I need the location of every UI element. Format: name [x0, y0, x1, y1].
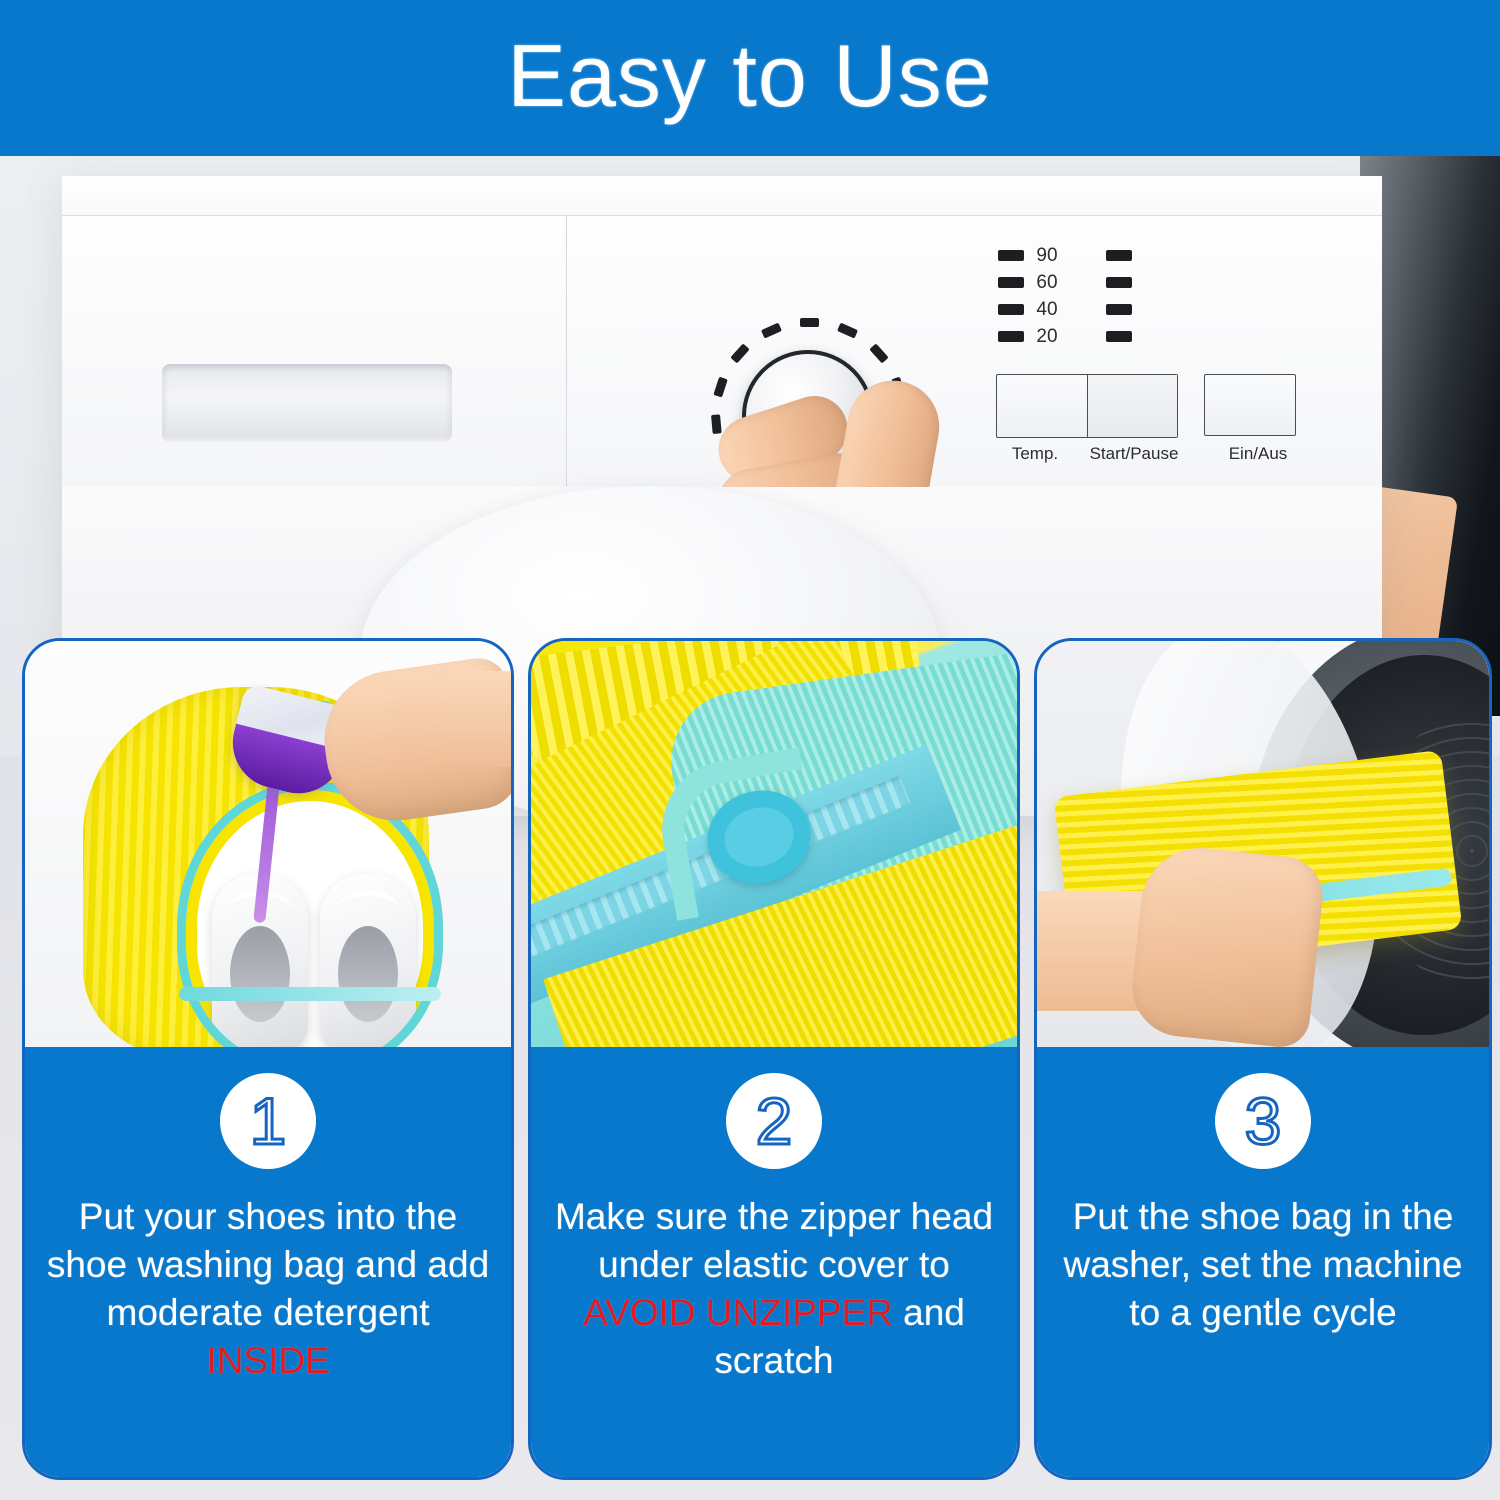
temperature-label: 20 [1024, 326, 1070, 348]
led-dash-icon [998, 331, 1024, 342]
step-text-plain: Put the shoe bag in the washer, set the … [1064, 1196, 1463, 1333]
step-text-plain: Make sure the zipper head under elastic … [555, 1196, 993, 1285]
dial-tick-icon [869, 343, 888, 363]
temperature-row: 90 [998, 242, 1132, 269]
temp-button[interactable] [997, 375, 1087, 437]
dial-tick-icon [837, 323, 858, 339]
dial-tick-icon [761, 323, 782, 339]
machine-buttons [996, 374, 1296, 438]
shoe-insole [230, 926, 290, 1022]
temperature-row: 60 [998, 269, 1132, 296]
power-button[interactable] [1204, 374, 1296, 436]
temperature-indicator-cluster: 90 60 40 20 [998, 242, 1132, 350]
step-3-badge: 3 [1215, 1073, 1311, 1169]
start-pause-button[interactable] [1087, 375, 1177, 437]
shoe-insole [338, 926, 398, 1022]
hand-holding-bag [1128, 842, 1327, 1047]
dial-tick-icon [730, 343, 749, 363]
bag-opening [177, 781, 443, 1047]
temperature-row: 40 [998, 296, 1132, 323]
dial-tick-icon [713, 377, 727, 398]
step-card-3: 3 Put the shoe bag in the washer, set th… [1034, 638, 1492, 1480]
step-1-photo [25, 641, 511, 1047]
header-banner: Easy to Use [0, 0, 1500, 156]
led-dash-icon [998, 304, 1024, 315]
step-1-text: Put your shoes into the shoe washing bag… [25, 1193, 511, 1385]
step-3-text: Put the shoe bag in the washer, set the … [1037, 1193, 1489, 1337]
step-2-caption: 2 Make sure the zipper head under elasti… [531, 1047, 1017, 1477]
step-card-2: 2 Make sure the zipper head under elasti… [528, 638, 1020, 1480]
temperature-label: 60 [1024, 272, 1070, 294]
step-3-photo [1037, 641, 1489, 1047]
machine-button-labels: Temp. Start/Pause Ein/Aus [988, 444, 1318, 464]
page-title: Easy to Use [507, 32, 992, 120]
start-pause-button-label: Start/Pause [1082, 444, 1186, 464]
step-number: 3 [1245, 1088, 1282, 1154]
step-3-caption: 3 Put the shoe bag in the washer, set th… [1037, 1047, 1489, 1477]
step-1-caption: 1 Put your shoes into the shoe washing b… [25, 1047, 511, 1477]
bag-zipper [179, 987, 441, 1001]
step-text-plain: Put your shoes into the shoe washing bag… [47, 1196, 489, 1333]
temp-button-label: Temp. [988, 444, 1082, 464]
temperature-label: 90 [1024, 245, 1070, 267]
led-dash-icon [1106, 277, 1132, 288]
sneaker-right [320, 874, 416, 1047]
dial-tick-icon [800, 318, 819, 327]
step-text-highlight: AVOID UNZIPPER [583, 1292, 893, 1333]
led-dash-icon [1106, 304, 1132, 315]
machine-control-panel: 90 60 40 20 [568, 216, 1382, 486]
machine-control-row: 90 60 40 20 [62, 216, 1382, 486]
power-button-label: Ein/Aus [1198, 444, 1318, 464]
drawer-handle[interactable] [162, 364, 452, 442]
led-dash-icon [1106, 331, 1132, 342]
wrist [445, 671, 511, 767]
step-number: 1 [250, 1088, 287, 1154]
temp-startpause-button-pair[interactable] [996, 374, 1178, 438]
machine-top-surface [62, 176, 1382, 216]
step-2-badge: 2 [726, 1073, 822, 1169]
temperature-row: 20 [998, 323, 1132, 350]
step-2-text: Make sure the zipper head under elastic … [531, 1193, 1017, 1385]
led-dash-icon [998, 250, 1024, 261]
step-2-photo [531, 641, 1017, 1047]
step-number: 2 [756, 1088, 793, 1154]
step-text-highlight: INSIDE [206, 1340, 329, 1381]
temperature-label: 40 [1024, 299, 1070, 321]
step-card-1: 1 Put your shoes into the shoe washing b… [22, 638, 514, 1480]
led-dash-icon [998, 277, 1024, 288]
step-1-badge: 1 [220, 1073, 316, 1169]
detergent-drawer[interactable] [62, 216, 567, 486]
led-dash-icon [1106, 250, 1132, 261]
